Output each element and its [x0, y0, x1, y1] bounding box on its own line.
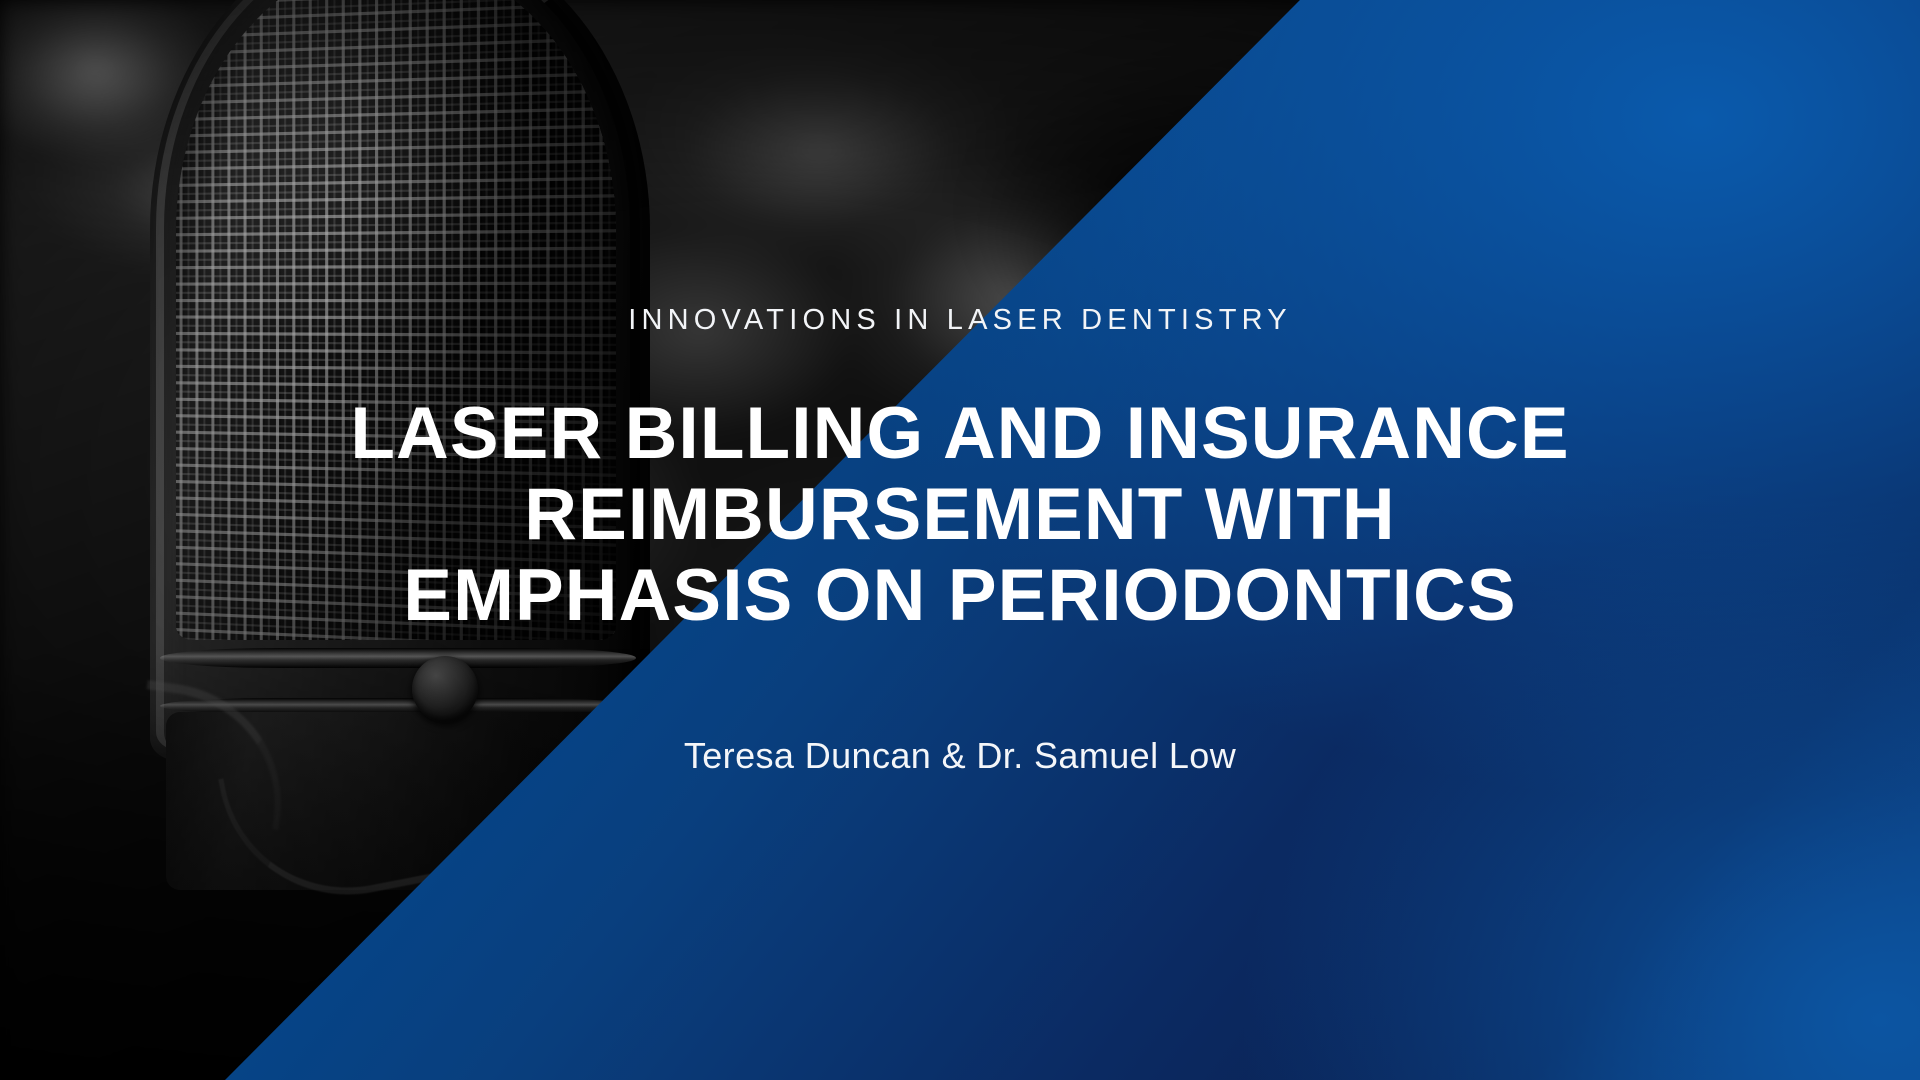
title-line-1: LASER BILLING AND INSURANCE	[60, 393, 1860, 474]
page-title: LASER BILLING AND INSURANCE REIMBURSEMEN…	[60, 393, 1860, 636]
title-line-3: EMPHASIS ON PERIODONTICS	[60, 555, 1860, 636]
presenter-names: Teresa Duncan & Dr. Samuel Low	[0, 735, 1920, 777]
title-slide: INNOVATIONS IN LASER DENTISTRY LASER BIL…	[0, 0, 1920, 1080]
series-kicker: INNOVATIONS IN LASER DENTISTRY	[0, 304, 1920, 337]
title-line-2: REIMBURSEMENT WITH	[60, 474, 1860, 555]
